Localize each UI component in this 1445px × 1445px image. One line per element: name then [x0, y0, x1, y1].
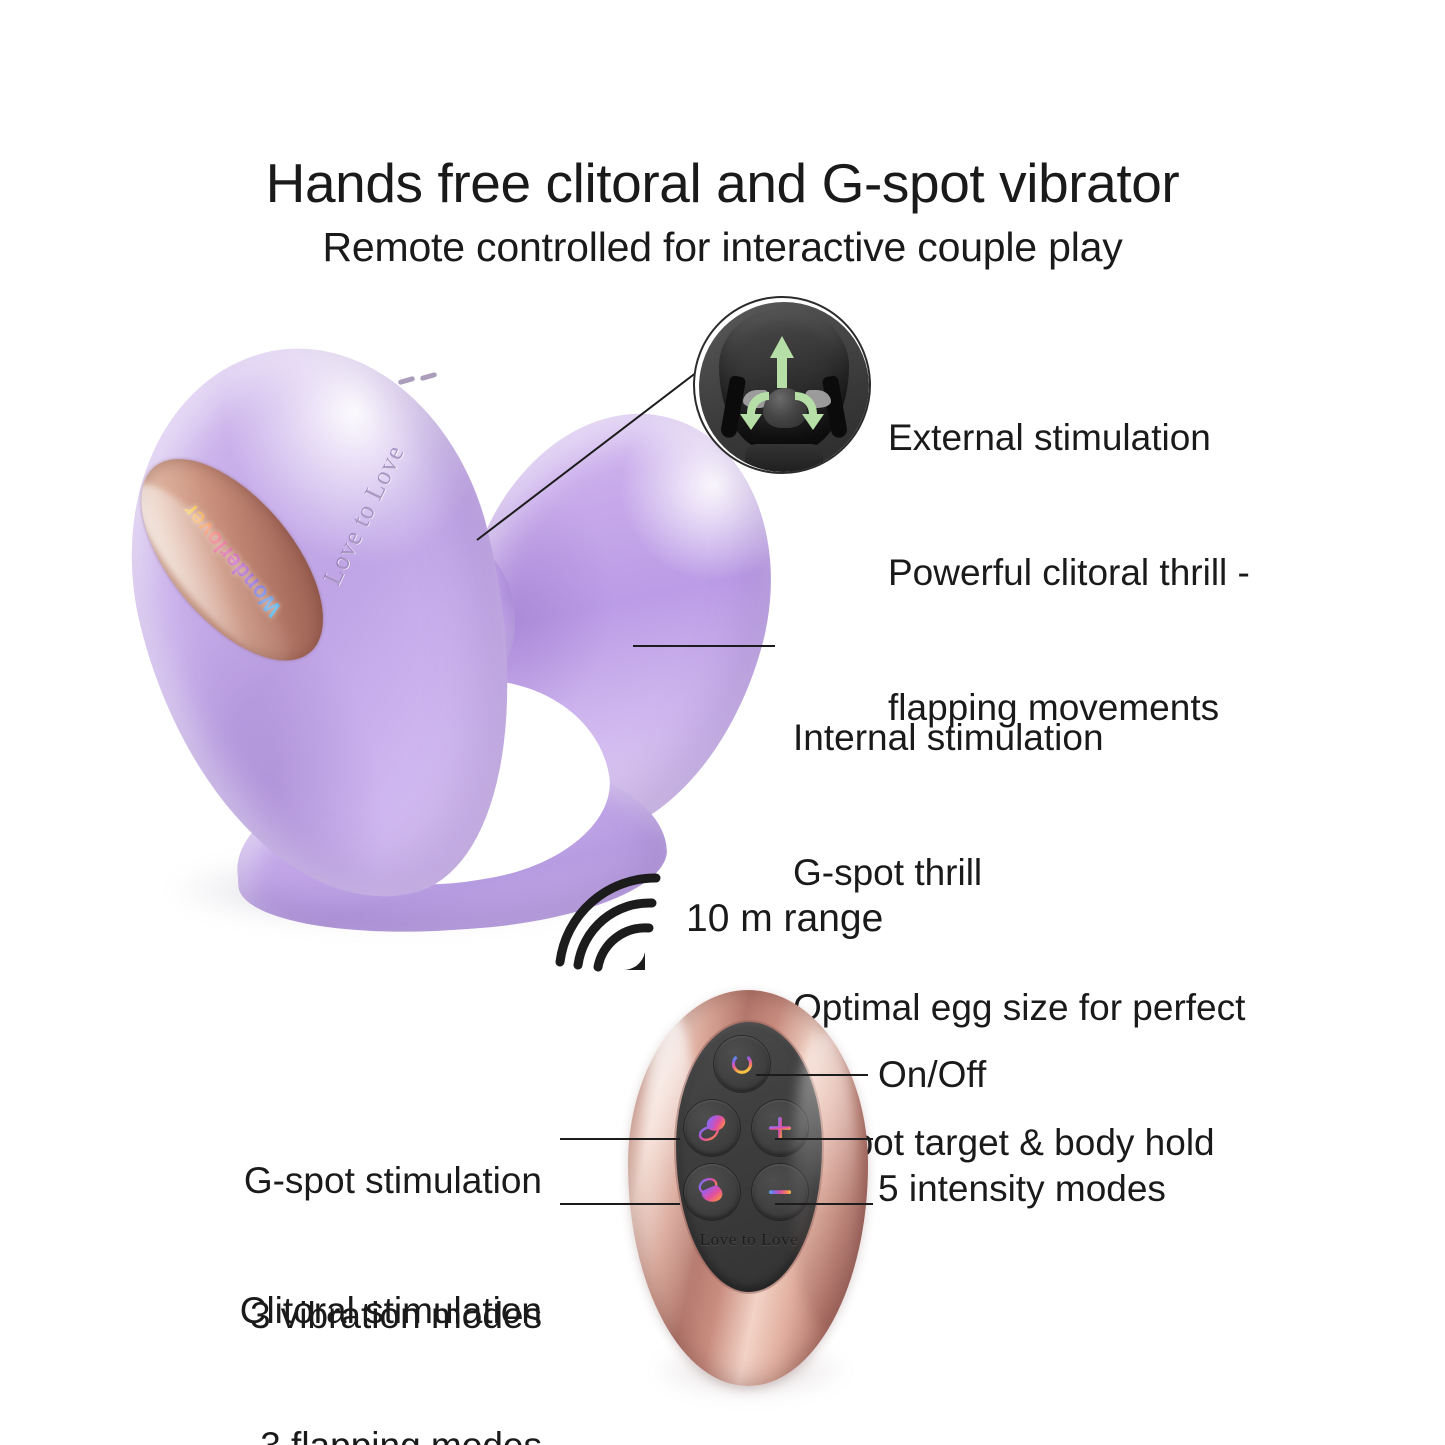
gspot-mode-button[interactable] — [684, 1100, 740, 1156]
wifi-signal-icon — [552, 866, 672, 974]
product-badge-label: Wonderlover — [177, 498, 287, 622]
charging-contact-icon — [420, 372, 438, 381]
external-line-2: Powerful clitoral thrill - — [888, 550, 1250, 595]
clitoral-mode-icon — [695, 1177, 729, 1207]
clitoral-stimulation-label: Clitoral stimulation 3 flapping modes — [150, 1198, 542, 1445]
charging-contact-icon — [398, 376, 416, 385]
power-icon — [727, 1049, 757, 1079]
clitoral-label-line-2: 3 flapping modes — [150, 1423, 542, 1445]
clitoral-mode-button[interactable] — [684, 1164, 740, 1220]
range-label: 10 m range — [686, 896, 883, 941]
leader-line-internal — [633, 645, 775, 647]
flapping-motion-arrows-icon — [693, 296, 871, 474]
leader-line-clitoral — [560, 1203, 680, 1205]
leader-line-gspot — [560, 1138, 680, 1140]
clitoral-label-line-1: Clitoral stimulation — [150, 1288, 542, 1333]
infographic-canvas: Hands free clitoral and G-spot vibrator … — [0, 0, 1445, 1445]
page-subtitle: Remote controlled for interactive couple… — [0, 222, 1445, 272]
remote-brand-label: Love to Love — [676, 1230, 822, 1250]
external-stimulation-detail — [693, 296, 871, 474]
leader-line-on-off — [756, 1074, 868, 1076]
internal-line-2: G-spot thrill — [793, 850, 1245, 895]
internal-line-1: Internal stimulation — [793, 715, 1245, 760]
gspot-mode-icon — [695, 1113, 729, 1143]
gspot-label-line-1: G-spot stimulation — [150, 1158, 542, 1203]
intensity-modes-label: 5 intensity modes — [878, 1166, 1166, 1211]
remote-body: Love to Love — [628, 990, 868, 1386]
on-off-label: On/Off — [878, 1052, 986, 1097]
leader-line-minus — [775, 1203, 873, 1205]
page-title: Hands free clitoral and G-spot vibrator — [0, 152, 1445, 214]
minus-button[interactable] — [752, 1164, 808, 1220]
remote-control-image: Love to Love — [628, 990, 868, 1410]
product-badge: Wonderlover — [108, 428, 357, 692]
power-button[interactable] — [714, 1036, 770, 1092]
leader-line-plus — [775, 1138, 873, 1140]
external-line-1: External stimulation — [888, 415, 1250, 460]
remote-button-panel: Love to Love — [676, 1022, 822, 1292]
plus-button[interactable] — [752, 1100, 808, 1156]
